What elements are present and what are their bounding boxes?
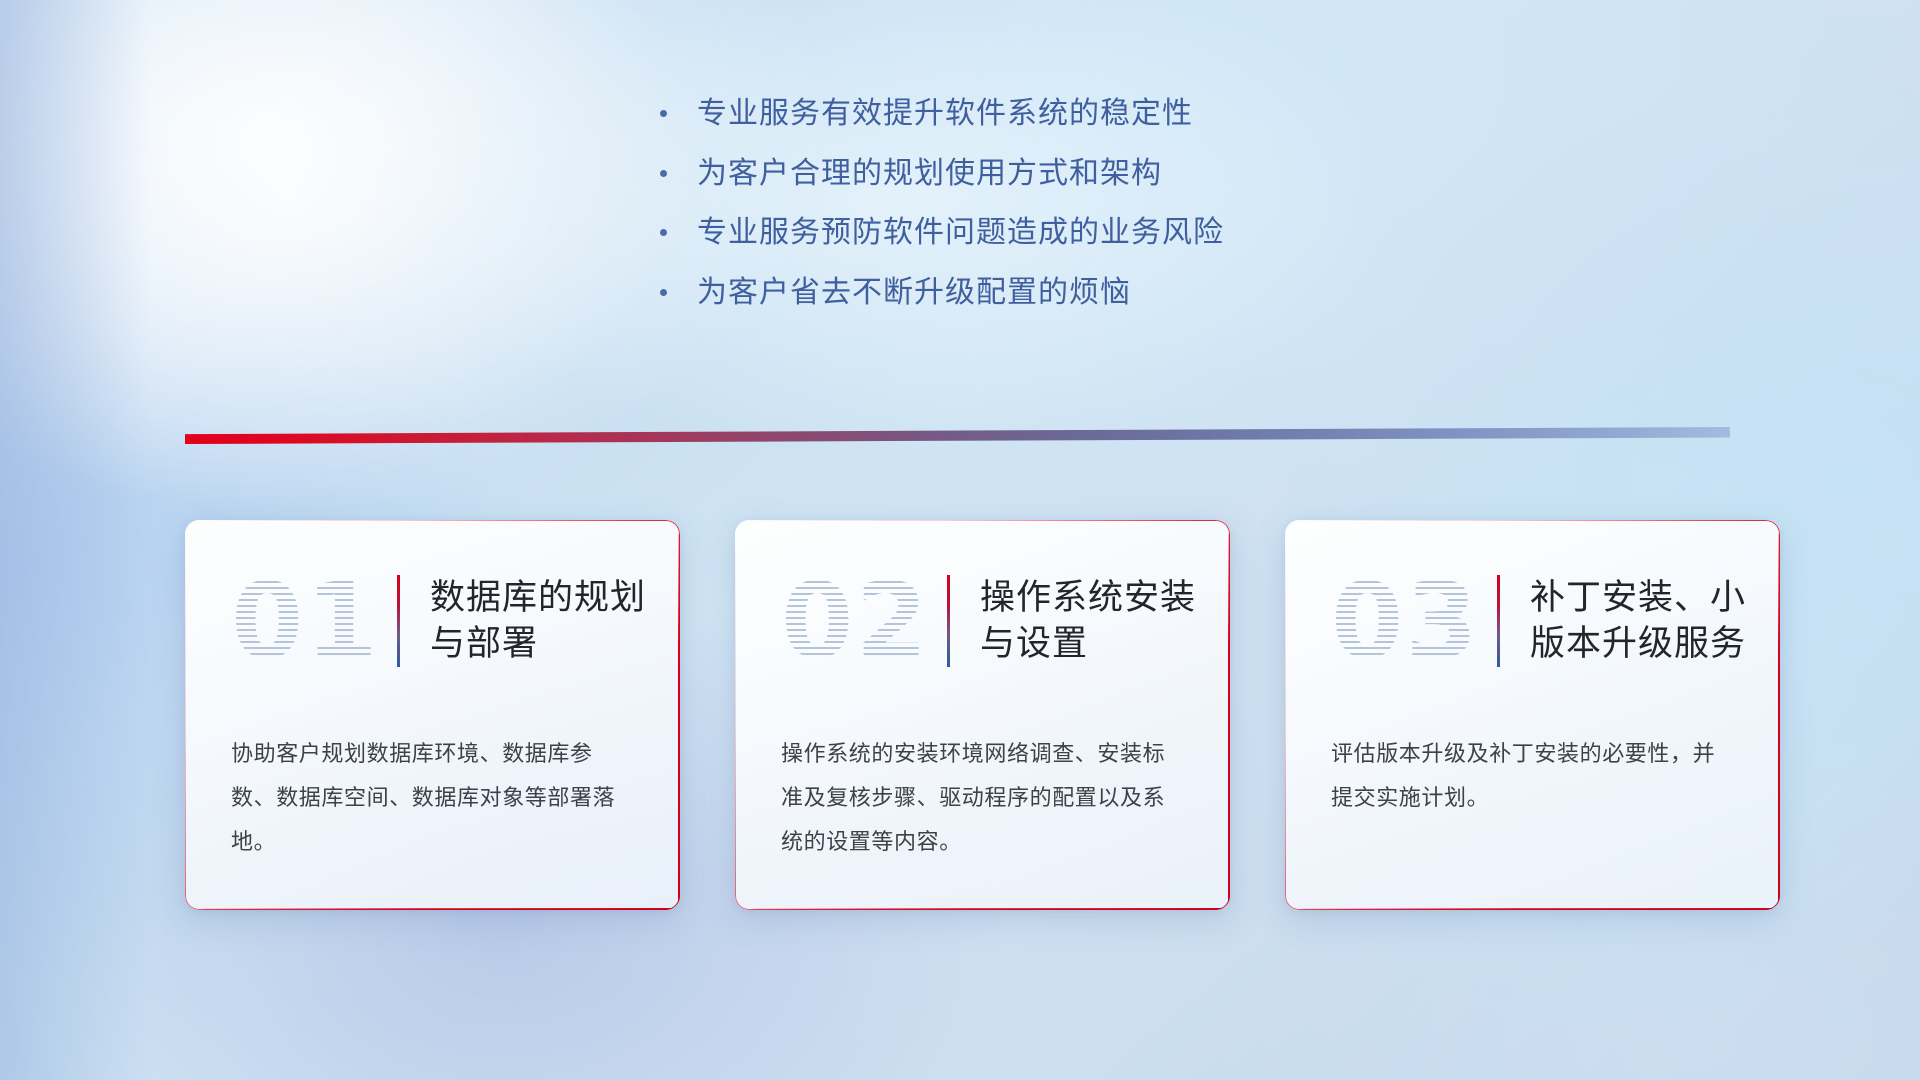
card-accent-border-bottom — [753, 908, 1230, 910]
service-card-list: 01 数据库的规划与部署 协助客户规划数据库环境、数据库参数、数据库空间、数据库… — [185, 520, 1780, 910]
card-title-rule — [397, 575, 400, 667]
card-header: 02 操作系统安装与设置 — [735, 520, 1230, 680]
bullet-item-2: 为客户合理的规划使用方式和架构 — [660, 155, 1224, 193]
service-card-02[interactable]: 02 操作系统安装与设置 操作系统的安装环境网络调查、安装标准及复核步骤、驱动程… — [735, 520, 1230, 910]
card-body-text: 协助客户规划数据库环境、数据库参数、数据库空间、数据库对象等部署落地。 — [185, 680, 680, 864]
section-divider-wedge — [185, 427, 1730, 444]
service-card-03[interactable]: 03 补丁安装、小版本升级服务 评估版本升级及补丁安装的必要性，并提交实施计划。 — [1285, 520, 1780, 910]
card-title-rule — [1497, 575, 1500, 667]
bullet-dot-icon — [660, 170, 667, 177]
card-accent-border-bottom — [1303, 908, 1780, 910]
card-title: 数据库的规划与部署 — [430, 575, 680, 667]
slide-root: 专业服务有效提升软件系统的稳定性 为客户合理的规划使用方式和架构 专业服务预防软… — [0, 0, 1920, 1080]
card-header: 01 数据库的规划与部署 — [185, 520, 680, 680]
card-number: 01 — [231, 569, 393, 673]
bullet-dot-icon — [660, 229, 667, 236]
card-title-rule — [947, 575, 950, 667]
card-body-text: 操作系统的安装环境网络调查、安装标准及复核步骤、驱动程序的配置以及系统的设置等内… — [735, 680, 1230, 864]
card-title: 补丁安装、小版本升级服务 — [1530, 575, 1780, 667]
card-title: 操作系统安装与设置 — [980, 575, 1230, 667]
bullet-text-1: 专业服务有效提升软件系统的稳定性 — [697, 95, 1193, 133]
card-body-text: 评估版本升级及补丁安装的必要性，并提交实施计划。 — [1285, 680, 1780, 820]
bullet-text-3: 专业服务预防软件问题造成的业务风险 — [697, 214, 1224, 252]
bullet-text-2: 为客户合理的规划使用方式和架构 — [697, 155, 1162, 193]
bullet-item-3: 专业服务预防软件问题造成的业务风险 — [660, 214, 1224, 252]
benefits-bullet-list: 专业服务有效提升软件系统的稳定性 为客户合理的规划使用方式和架构 专业服务预防软… — [660, 95, 1224, 311]
bullet-item-1: 专业服务有效提升软件系统的稳定性 — [660, 95, 1224, 133]
card-number: 03 — [1331, 569, 1493, 673]
card-number: 02 — [781, 569, 943, 673]
background-vignette-left — [0, 0, 150, 1080]
card-accent-border-bottom — [203, 908, 680, 910]
bullet-item-4: 为客户省去不断升级配置的烦恼 — [660, 274, 1224, 312]
bullet-dot-icon — [660, 110, 667, 117]
card-header: 03 补丁安装、小版本升级服务 — [1285, 520, 1780, 680]
service-card-01[interactable]: 01 数据库的规划与部署 协助客户规划数据库环境、数据库参数、数据库空间、数据库… — [185, 520, 680, 910]
bullet-dot-icon — [660, 289, 667, 296]
bullet-text-4: 为客户省去不断升级配置的烦恼 — [697, 274, 1131, 312]
